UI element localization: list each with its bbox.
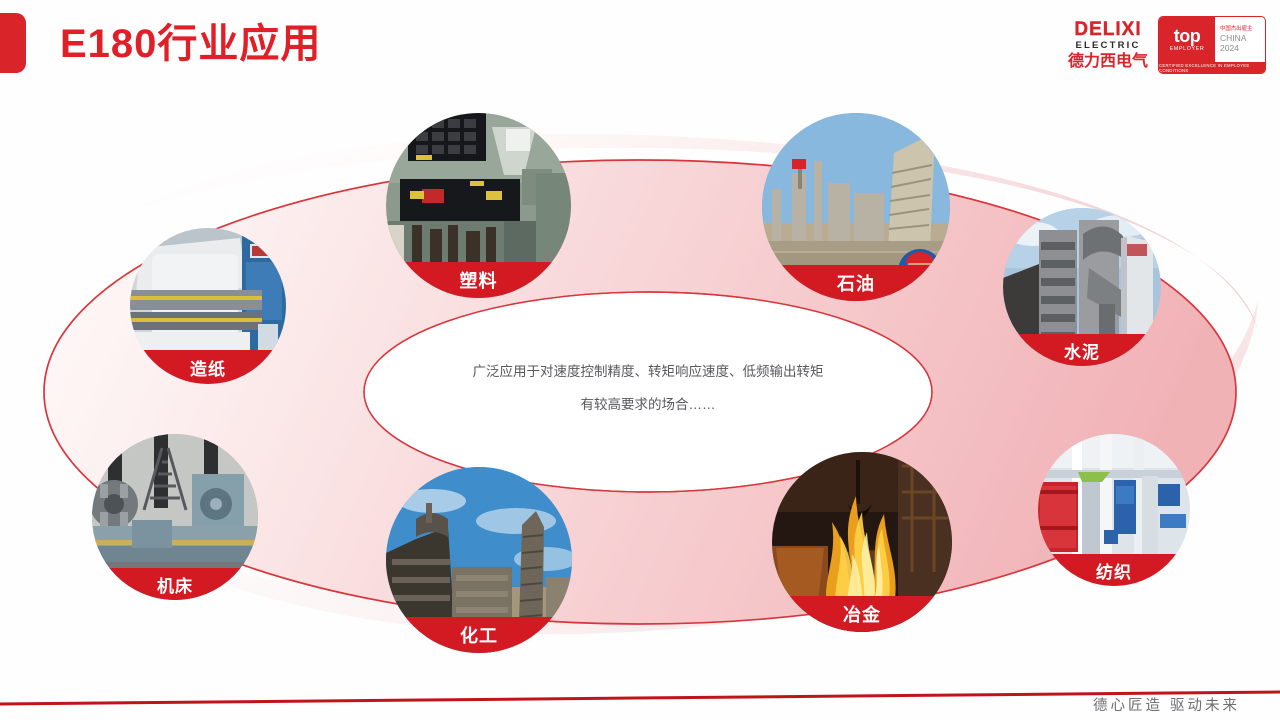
badge-body: top EMPLOYER 中国杰出雇主 CHINA 2024 — [1159, 17, 1265, 62]
delixi-subtitle: ELECTRIC — [1075, 41, 1140, 51]
industry-node-chemical[interactable]: 化工 — [386, 467, 572, 653]
node-label-band-oil: 石油 — [762, 265, 950, 301]
node-label-textile: 纺织 — [1096, 558, 1132, 583]
node-label-paper: 造纸 — [190, 355, 226, 380]
node-label-band-cement: 水泥 — [1003, 334, 1161, 366]
node-label-band-paper: 造纸 — [130, 350, 286, 384]
badge-mark: top EMPLOYER — [1159, 17, 1215, 62]
page-title: E180行业应用 — [60, 18, 321, 70]
footer-slogan: 德心匠造 驱动未来 — [1093, 694, 1240, 715]
node-label-plastic: 塑料 — [460, 267, 498, 293]
industry-node-paper[interactable]: 造纸 — [130, 228, 286, 384]
node-label-metal: 冶金 — [843, 601, 881, 627]
badge-country: CHINA — [1220, 33, 1265, 43]
title-accent-bar — [0, 13, 26, 73]
industry-node-textile[interactable]: 纺织 — [1038, 434, 1190, 586]
node-label-band-metal: 冶金 — [772, 596, 952, 632]
delixi-chinese-name: 德力西电气 — [1068, 54, 1148, 70]
industry-node-plastic[interactable]: 塑料 — [386, 113, 571, 298]
delixi-wordmark: DELIXI — [1074, 20, 1141, 39]
delixi-logo: DELIXI ELECTRIC 德力西电气 — [1068, 20, 1148, 70]
centre-caption: 广泛应用于对速度控制精度、转矩响应速度、低频输出转矩 有较高要求的场合…… — [392, 355, 904, 421]
badge-top-word: top — [1174, 28, 1200, 44]
industry-node-metal[interactable]: 冶金 — [772, 452, 952, 632]
node-label-machine: 机床 — [157, 572, 193, 597]
centre-caption-line-2: 有较高要求的场合…… — [392, 388, 904, 421]
node-label-band-plastic: 塑料 — [386, 262, 571, 298]
badge-year: 2024 — [1220, 43, 1265, 53]
industry-node-cement[interactable]: 水泥 — [1003, 208, 1161, 366]
slide-root: E180行业应用 DELIXI ELECTRIC 德力西电气 top EMPLO… — [0, 0, 1280, 720]
node-label-chemical: 化工 — [460, 622, 498, 648]
node-label-band-chemical: 化工 — [386, 617, 572, 653]
brand-logo-zone: DELIXI ELECTRIC 德力西电气 top EMPLOYER 中国杰出雇… — [1068, 14, 1266, 76]
centre-caption-line-1: 广泛应用于对速度控制精度、转矩响应速度、低频输出转矩 — [392, 355, 904, 388]
node-label-oil: 石油 — [837, 270, 875, 296]
industry-node-machine[interactable]: 机床 — [92, 434, 258, 600]
industry-node-oil[interactable]: 石油 — [762, 113, 950, 301]
top-employer-badge: top EMPLOYER 中国杰出雇主 CHINA 2024 CERTIFIED… — [1158, 16, 1266, 74]
badge-chinese-label: 中国杰出雇主 — [1220, 26, 1265, 33]
badge-certification-text: CERTIFIED EXCELLENCE IN EMPLOYEE CONDITI… — [1159, 62, 1265, 73]
badge-employer-label: EMPLOYER — [1170, 46, 1205, 52]
node-label-band-textile: 纺织 — [1038, 554, 1190, 586]
node-label-band-machine: 机床 — [92, 568, 258, 600]
badge-info: 中国杰出雇主 CHINA 2024 — [1215, 17, 1265, 62]
node-label-cement: 水泥 — [1064, 338, 1100, 363]
